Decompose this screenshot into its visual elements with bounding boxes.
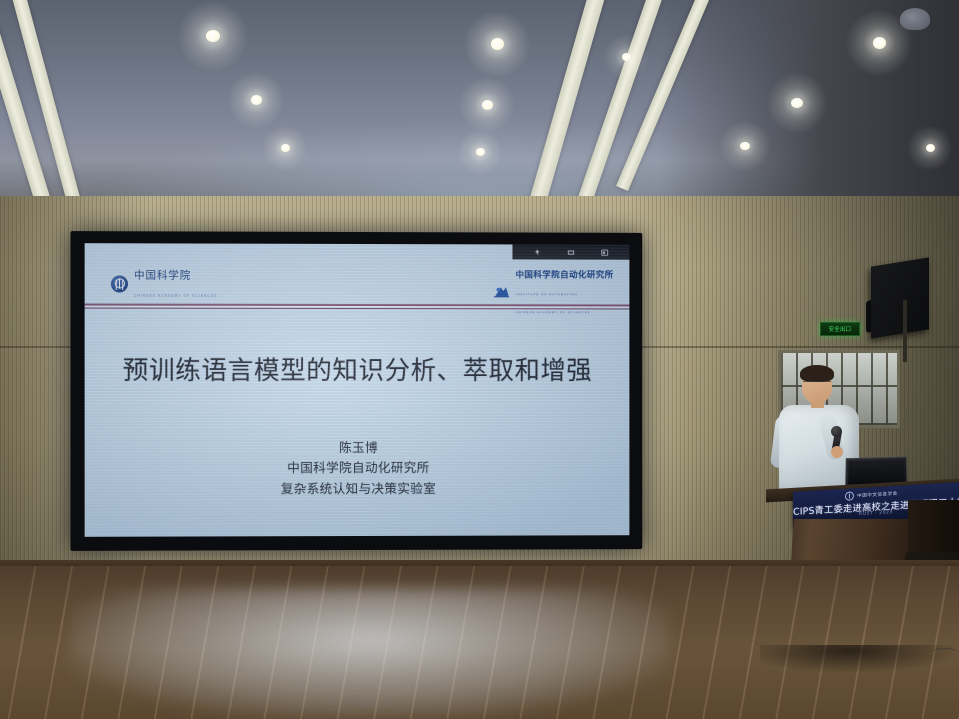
exit-sign: 安全出口 (820, 322, 860, 336)
downlight-core (281, 144, 290, 152)
exit-sign-label: 安全出口 (829, 325, 852, 333)
ceiling-beam (10, 0, 88, 205)
slide-toolbar[interactable] (512, 244, 629, 259)
institute-logo-en1: INSTITUTE OF AUTOMATION (516, 292, 578, 296)
window-icon[interactable] (601, 248, 609, 256)
cas-seal-icon (111, 275, 128, 292)
downlight-core (873, 37, 886, 48)
downlight-core (926, 144, 935, 152)
laptop-screen[interactable] (848, 460, 904, 485)
ceiling-vent-icon (900, 8, 930, 30)
ceiling (0, 0, 959, 205)
downlight-core (622, 53, 631, 61)
slideshow-icon[interactable] (567, 248, 575, 256)
glasses-icon (803, 381, 831, 388)
presenter-hand (831, 446, 843, 458)
slide-affiliation-1: 中国科学院自动化研究所 (85, 458, 630, 479)
downlight-core (491, 38, 504, 49)
slide-author-name: 陈玉博 (85, 438, 630, 459)
microphone-head-icon (831, 426, 842, 437)
downlight-core (251, 95, 262, 105)
pin-icon[interactable] (533, 248, 541, 256)
speaker-support-post (903, 300, 907, 362)
presentation-slide[interactable]: 中国科学院 CHINESE ACADEMY OF SCIENCES 中国科学院自… (85, 243, 630, 537)
podium-shadow (760, 645, 959, 673)
wall-speaker-icon (871, 257, 929, 338)
slide-title: 预训练语言模型的知识分析、萃取和增强 (85, 350, 630, 387)
screen-reflection-on-floor (70, 588, 670, 719)
slide-affiliation-2: 复杂系统认知与决策实验室 (85, 478, 630, 499)
projection-screen[interactable]: 中国科学院 CHINESE ACADEMY OF SCIENCES 中国科学院自… (70, 231, 642, 551)
institute-of-automation-icon (493, 284, 511, 299)
cas-logo-text: 中国科学院 CHINESE ACADEMY OF SCIENCES (134, 265, 217, 301)
institute-logo-en2: CHINESE ACADEMY OF SCIENCES (516, 310, 591, 314)
downlight-core (482, 100, 493, 110)
cas-logo-en: CHINESE ACADEMY OF SCIENCES (134, 294, 217, 298)
cas-logo-zh: 中国科学院 (134, 269, 191, 281)
institute-logo-zh: 中国科学院自动化研究所 (516, 270, 614, 280)
floor (0, 566, 959, 719)
slide-divider (85, 304, 630, 311)
floor-cable (930, 648, 959, 659)
presenter-hair (800, 365, 834, 382)
slide-author-block: 陈玉博 中国科学院自动化研究所 复杂系统认知与决策实验室 (85, 438, 630, 500)
cas-logo: 中国科学院 CHINESE ACADEMY OF SCIENCES (111, 265, 218, 301)
downlight-core (476, 148, 485, 156)
presentation-room-photo: 安全出口 中国科学院 CHIN (0, 0, 959, 719)
